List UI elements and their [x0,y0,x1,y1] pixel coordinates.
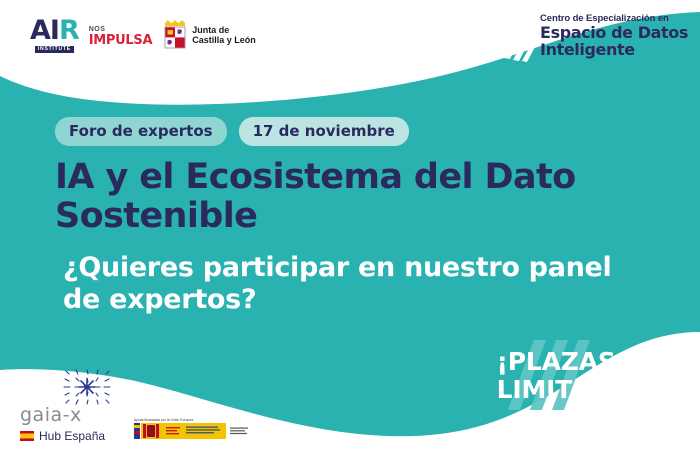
junta-logo-text: Junta de Castilla y León [192,25,256,46]
spain-flag-icon [20,431,34,441]
gaia-x-wordmark: gaia-x [20,406,82,425]
impulsa-nos-text: NOS [89,26,152,33]
ceedi-logo: Centro de Especialización en Espacio de … [492,14,688,64]
plazas-line2: LIMITADAS! [497,376,658,404]
headline-line2: Sostenible [55,197,655,236]
page-subtitle: ¿Quieres participar en nuestro panel de … [63,252,663,316]
gob-logo-bar [134,423,252,439]
junta-castilla-leon-logo: Junta de Castilla y León [162,20,256,50]
castilla-leon-coat-of-arms-icon [162,20,188,50]
ceedi-logo-text: Centro de Especialización en Espacio de … [540,14,688,59]
badge-foro-de-expertos[interactable]: Foro de expertos [55,117,227,146]
headline-line1: IA y el Ecosistema del Dato [55,158,655,197]
air-institute-logo: AIR INSTITUTE [30,17,79,53]
gobierno-espana-emblem-icon [134,423,252,439]
gaia-x-hub-label: Hub España [39,429,105,443]
junta-line1: Junta de [192,25,256,35]
impulsa-wordmark: IMPULSA [89,34,152,47]
partner-logos-bottom: gaia-x Hub España Ayuda financiada por l… [20,366,252,443]
page-title: IA y el Ecosistema del Dato Sostenible [55,158,655,236]
nos-impulsa-logo: NOS IMPULSA [89,23,152,47]
subhead-line2: de expertos? [63,284,663,316]
partner-logos-top: AIR INSTITUTE NOS IMPULSA [0,0,290,70]
plazas-line1: ¡PLAZAS [497,348,658,376]
air-logo-wordmark: AIR [30,17,79,44]
event-badges: Foro de expertos 17 de noviembre [55,117,409,146]
hand-stripes-icon [492,14,536,64]
badge-fecha[interactable]: 17 de noviembre [239,117,409,146]
gaia-x-hub-row: Hub España [20,429,105,443]
gob-funding-note: Ayuda financiada por la Unión Europea [134,418,252,422]
gaia-x-logo: gaia-x Hub España [20,366,124,443]
ceedi-title-line1: Espacio de Datos [540,24,688,41]
air-logo-subtitle: INSTITUTE [35,46,74,53]
limited-seats-callout: ¡PLAZAS LIMITADAS! [497,348,658,404]
subhead-line1: ¿Quieres participar en nuestro panel [63,252,663,284]
junta-line2: Castilla y León [192,35,256,45]
air-logo-ai: AI [30,15,59,46]
ceedi-title-line2: Inteligente [540,41,688,58]
gobierno-espana-logo: Ayuda financiada por la Unión Europea [134,418,252,439]
air-logo-r: R [59,15,79,46]
promotional-banner: AIR INSTITUTE NOS IMPULSA [0,0,700,457]
